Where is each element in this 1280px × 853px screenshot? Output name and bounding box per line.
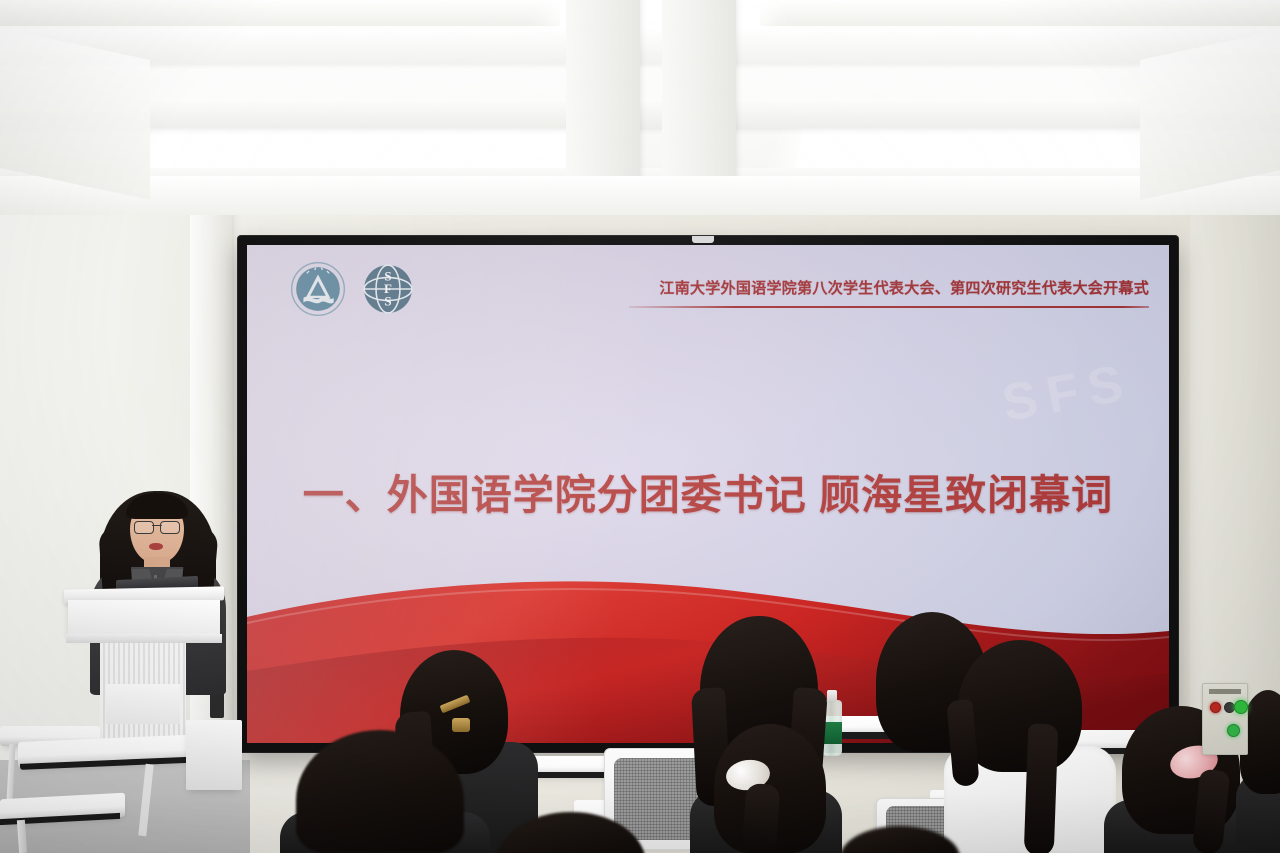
ceiling-beam-1 [0,28,1280,64]
slide-watermark: SFS [998,352,1138,434]
slide-header-text: 江南大学外国语学院第八次学生代表大会、第四次研究生代表大会开幕式 [629,277,1149,298]
indicator-red[interactable] [1210,702,1221,713]
speaker-glasses [134,521,180,532]
hair-clip-gold-2 [452,718,470,732]
conference-photo-scene: S F S SFS 江南大学外国语学院第八次学生代表大会、第四次研究生代表大会开… [0,0,1280,853]
desk-side-panel [186,720,242,790]
av-control-panel[interactable] [1202,683,1248,755]
slide-logo-group: S F S [290,261,414,317]
sfs-school-logo: S F S [362,263,414,315]
glasses-lens-left [134,521,154,534]
lectern-front-plate [106,684,180,724]
coffered-ceiling [0,0,1280,215]
speaker-mouth [149,543,163,550]
water-bottle-cap [827,690,837,701]
audience-ponytail-white-blazer [1024,724,1059,853]
slide-header: 江南大学外国语学院第八次学生代表大会、第四次研究生代表大会开幕式 [629,277,1149,308]
indicator-green-2[interactable] [1227,724,1240,737]
glasses-lens-right [160,521,180,534]
audience-ponytail-white-scrunchie [742,783,781,853]
ceiling-beam-vertical-right [662,0,736,194]
control-panel-label [1209,689,1241,694]
lectern-lip [66,634,222,643]
lectern-body [68,600,220,636]
ceiling-beam-2 [0,98,1280,128]
svg-text:S: S [384,294,391,309]
jiangnan-university-logo [290,261,346,317]
ceiling-beam-vertical-left [566,0,640,194]
slide-main-title: 一、外国语学院分团委书记 顾海星致闭幕词 [247,461,1169,521]
indicator-green[interactable] [1234,700,1248,714]
slide-header-rule [629,306,1149,308]
screen-bezel-notch [692,236,714,243]
ceiling-soffit-bottom [0,176,1280,215]
